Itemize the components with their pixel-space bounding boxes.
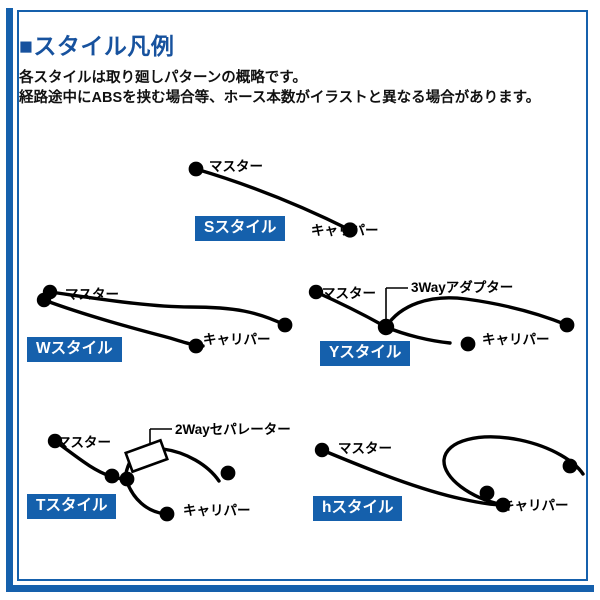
w-style-master-label: マスター [65, 283, 119, 303]
s-style-caliper-label: キャリパー [311, 219, 379, 239]
w-style-badge[interactable]: Wスタイル [27, 337, 122, 362]
y-style-caliper-node-1 [560, 318, 575, 333]
t-style-hose-branch-lower [127, 482, 166, 514]
h-style-master-label: マスター [338, 437, 392, 457]
w-style-caliper-node-1 [278, 318, 293, 333]
t-style-separator-label: 2Wayセパレーター [175, 418, 291, 438]
t-style-caliper-node-1 [221, 466, 236, 481]
t-style-hose-branch-upper [163, 449, 219, 481]
t-style-badge[interactable]: Tスタイル [27, 494, 116, 519]
t-style-caliper-node-2 [160, 507, 175, 522]
h-style-master-node [315, 443, 329, 457]
y-style-master-label: マスター [322, 282, 376, 302]
y-style-caliper-label: キャリパー [482, 328, 550, 348]
t-style-master-label: マスター [57, 431, 111, 451]
h-style-caliper-node-3 [563, 459, 578, 474]
y-style-hose-branch-upper [386, 298, 567, 327]
s-style-master-label: マスター [209, 155, 263, 175]
t-style-separator-node [120, 472, 135, 487]
s-style-master-node [189, 162, 204, 177]
h-style-caliper-node-2 [480, 486, 495, 501]
t-style-junction-node [105, 469, 120, 484]
style-legend-page: ■スタイル凡例 各スタイルは取り廻しパターンの概略です。 経路途中にABSを挟む… [0, 0, 600, 600]
y-style-adapter-label: 3Wayアダプター [411, 276, 513, 296]
y-style-badge[interactable]: Yスタイル [320, 341, 410, 366]
t-style-separator-box [126, 440, 168, 471]
w-style-master-node-2 [37, 293, 51, 307]
s-style-badge[interactable]: Sスタイル [195, 216, 285, 241]
t-style-caliper-label: キャリパー [183, 499, 251, 519]
w-style-caliper-node-2 [189, 339, 204, 354]
h-style-caliper-label: キャリパー [501, 494, 569, 514]
y-style-caliper-node-2 [461, 337, 476, 352]
y-style-adapter-node [378, 319, 394, 335]
h-style-badge[interactable]: hスタイル [313, 496, 402, 521]
w-style-caliper-label: キャリパー [203, 328, 271, 348]
